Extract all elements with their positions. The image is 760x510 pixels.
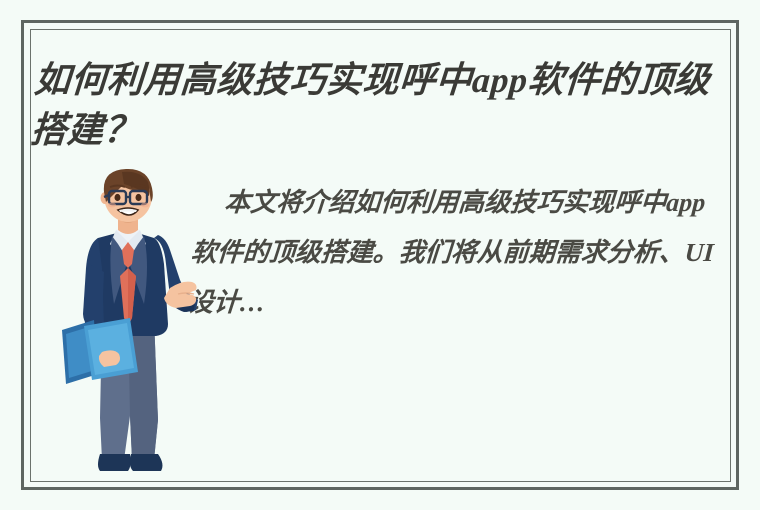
businessman-presenting-illustration [58,168,198,476]
page-title: 如何利用高级技巧实现呼中app软件的顶级搭建？ [29,55,742,155]
article-card: 如何利用高级技巧实现呼中app软件的顶级搭建？ 本文将介绍如何利用高级技巧实现呼… [0,0,760,510]
article-summary: 本文将介绍如何利用高级技巧实现呼中app软件的顶级搭建。我们将从前期需求分析、U… [186,178,728,328]
